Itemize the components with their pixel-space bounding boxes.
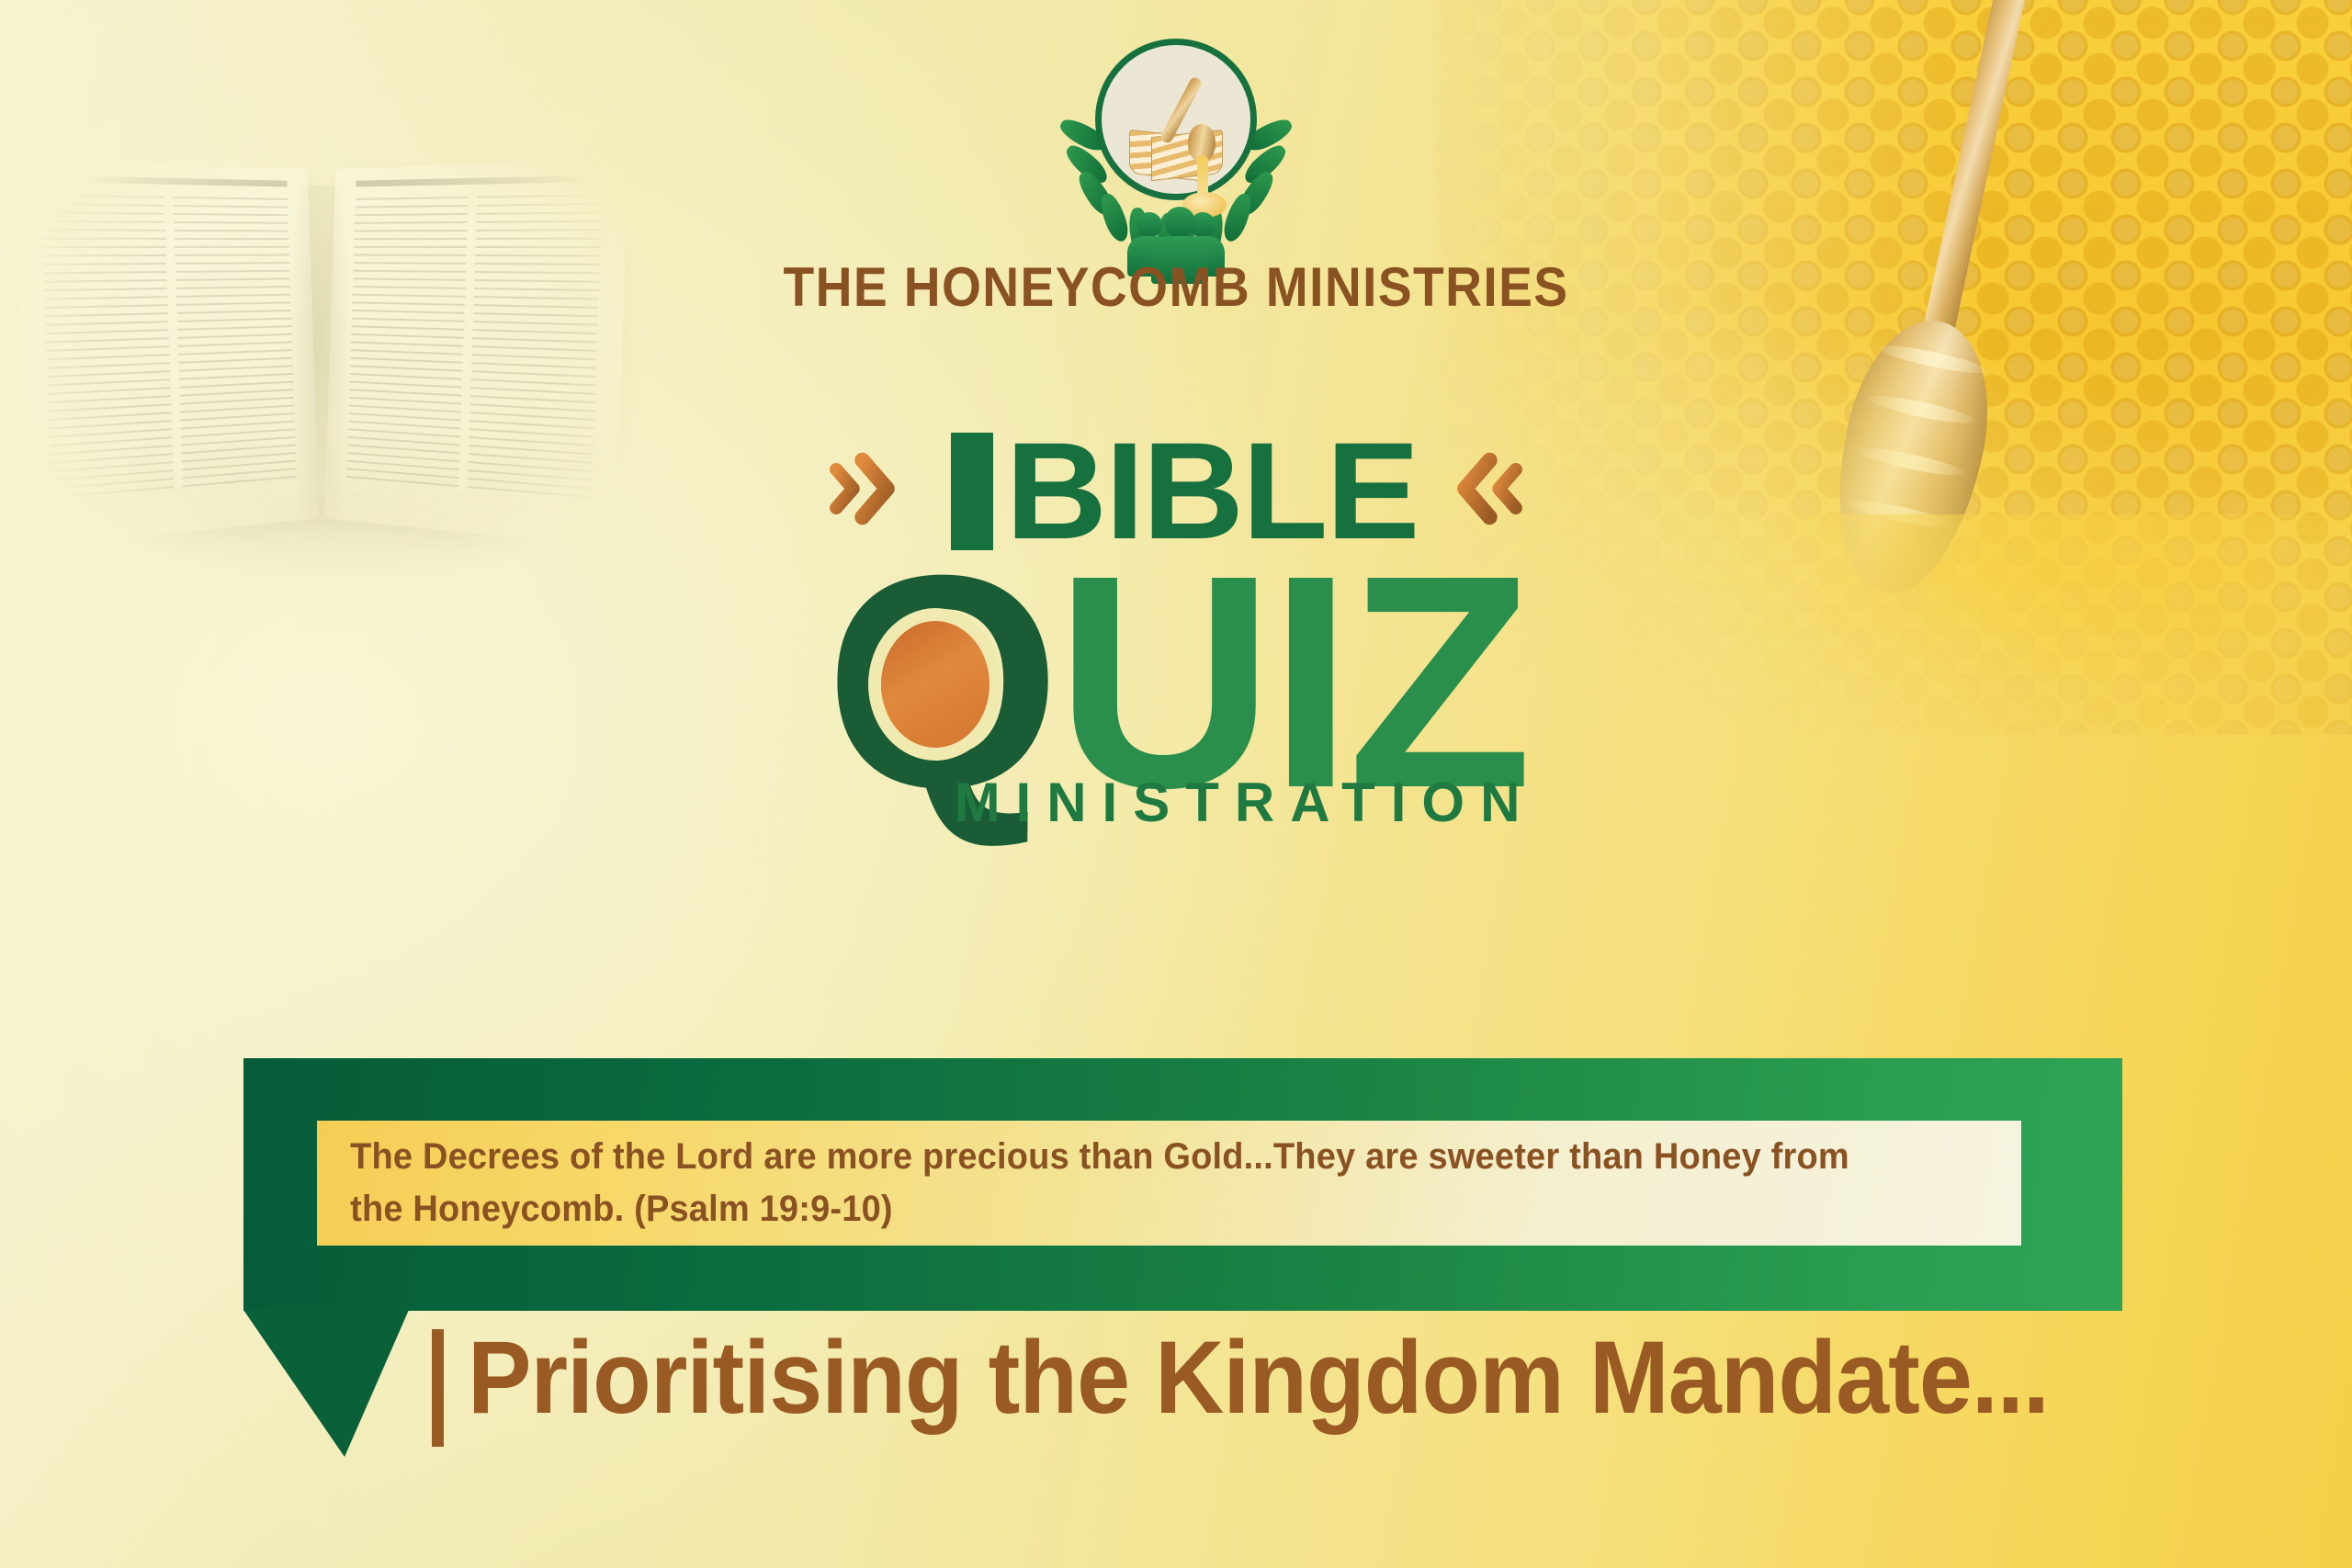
quiz-row: QUIZ MINISTRATION <box>0 530 2352 833</box>
quote-speech-bubble: The Decrees of the Lord are more preciou… <box>243 1058 2122 1311</box>
emblem-disc <box>1095 39 1257 200</box>
quote-panel: The Decrees of the Lord are more preciou… <box>317 1121 2021 1246</box>
tagline-row: Prioritising the Kingdom Mandate... <box>432 1324 2167 1447</box>
title-block: BIBLE QUIZ MINISTRATION <box>0 432 2352 833</box>
tagline-text: Prioritising the Kingdom Mandate... <box>468 1324 2049 1432</box>
dipper-groove <box>1876 341 1989 378</box>
tagline-accent-bar <box>432 1329 444 1447</box>
ministry-emblem-icon <box>1066 26 1286 246</box>
title-subtitle: MINISTRATION <box>0 771 2352 834</box>
speech-bubble-tail <box>243 1310 409 1457</box>
quote-text: The Decrees of the Lord are more preciou… <box>317 1131 1936 1235</box>
brand-name: THE HONEYCOMB MINISTRIES <box>94 255 2257 319</box>
emblem-person-head-left <box>1136 212 1162 238</box>
quiz-q-honey-dot <box>881 621 989 748</box>
emblem-person-head-center <box>1164 207 1195 238</box>
dipper-groove <box>1865 390 1978 428</box>
logo-block: THE HONEYCOMB MINISTRIES <box>0 26 2352 319</box>
